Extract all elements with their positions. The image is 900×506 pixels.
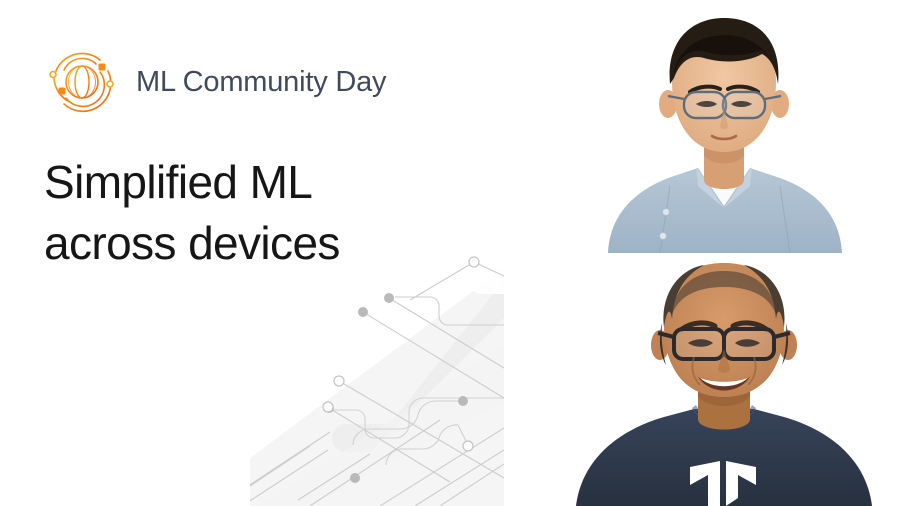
slide-canvas: ML Community Day Simplified ML across de…: [0, 0, 900, 506]
brand-lockup: ML Community Day: [42, 44, 386, 120]
speaker-photo-stack: [548, 0, 900, 506]
brand-name: ML Community Day: [136, 68, 386, 97]
globe-orbit-icon: [42, 44, 122, 120]
speaker-photo-top: [548, 0, 900, 253]
speaker-photo-bottom: [548, 253, 900, 506]
circuit-node-filled: [324, 293, 468, 483]
page-title-line-2: across devices: [44, 213, 514, 274]
circuit-trace-pattern: [250, 250, 504, 506]
page-title: Simplified ML across devices: [44, 152, 514, 273]
page-title-line-1: Simplified ML: [44, 152, 514, 213]
circuit-node-hollow: [323, 257, 479, 451]
